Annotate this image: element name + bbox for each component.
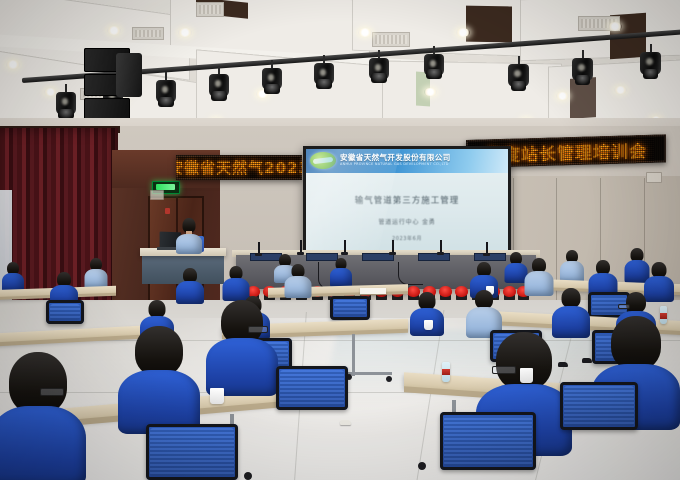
slide-header-band: 安徽省天然气开发股份有限公司 ANHUI PROVINCE NATURAL GA…: [306, 149, 508, 173]
attendee: [2, 262, 24, 292]
led-banner-left: 安徽省天然气2023: [176, 155, 302, 180]
stage-spotlight-icon: [314, 55, 334, 86]
recessed-downlight-icon: [556, 92, 569, 100]
wall-control-box[interactable]: [150, 190, 164, 200]
attendee-foreground: [118, 326, 200, 430]
fire-alarm-icon: [165, 208, 170, 214]
slide-presenter: 管道运行中心 金勇: [306, 217, 508, 226]
recessed-downlight-icon: [424, 88, 437, 96]
attendee-foreground: [206, 300, 278, 392]
microphone-base: [437, 252, 444, 255]
microphone-base: [341, 252, 348, 255]
shoe: [340, 420, 351, 425]
microphone-base: [389, 252, 396, 255]
presentation-slide: 安徽省天然气开发股份有限公司 ANHUI PROVINCE NATURAL GA…: [306, 149, 508, 259]
chair-caster: [418, 462, 426, 470]
recessed-downlight-icon: [456, 28, 470, 37]
recessed-downlight-icon: [614, 86, 627, 94]
stage-spotlight-icon: [572, 50, 593, 82]
shoe: [582, 358, 592, 363]
chair[interactable]: [276, 366, 348, 410]
stage-spotlight-icon: [424, 46, 444, 76]
stage-spotlight-icon: [156, 72, 176, 104]
projection-screen: 安徽省天然气开发股份有限公司 ANHUI PROVINCE NATURAL GA…: [303, 146, 511, 262]
wall-control-box[interactable]: [646, 172, 662, 183]
attendee: [222, 266, 249, 299]
recessed-downlight-icon: [107, 26, 121, 35]
stage-spotlight-icon: [508, 56, 529, 88]
recessed-downlight-icon: [178, 28, 192, 37]
recessed-downlight-icon: [6, 60, 20, 69]
paper-cup-icon: [210, 388, 224, 404]
stage-spotlight-icon: [262, 60, 282, 91]
conference-room-photo: 安徽省天然气2023 年度站长管理培训会 安徽省天然气开发股份有限公司 ANHU…: [0, 0, 680, 480]
attendee: [84, 258, 107, 288]
microphone-base: [483, 253, 490, 256]
company-globe-logo-icon: [310, 152, 336, 169]
table-rail: [348, 372, 392, 375]
stage-spotlight-icon: [209, 66, 229, 98]
microphone-base: [297, 252, 304, 255]
paper-cup-icon: [520, 368, 533, 383]
chair[interactable]: [146, 424, 238, 480]
attendee: [524, 258, 553, 294]
recessed-downlight-icon: [358, 28, 372, 37]
stage-spotlight-icon: [369, 50, 389, 80]
chair[interactable]: [330, 296, 370, 320]
ceiling-vent: [372, 32, 410, 47]
attendee: [330, 258, 352, 286]
chair-caster: [244, 472, 252, 480]
ceiling-vent: [132, 27, 164, 40]
table-caster: [386, 376, 392, 382]
ceiling-vent: [196, 2, 224, 17]
slide-date: 2023年6月: [306, 235, 508, 242]
table-leg: [352, 334, 355, 376]
attendee: [284, 264, 311, 296]
microphone-base: [255, 253, 262, 256]
paper-cup-icon: [424, 320, 433, 330]
recessed-downlight-icon: [608, 22, 622, 31]
chair[interactable]: [560, 382, 638, 430]
presenter: [176, 218, 202, 252]
chair[interactable]: [46, 300, 84, 324]
paper-handout: [360, 288, 386, 294]
desk-cable: [398, 262, 423, 285]
attendee-foreground: [0, 352, 86, 480]
slide-company-subtitle: ANHUI PROVINCE NATURAL GAS DEVELOPMENT C…: [340, 162, 449, 166]
chair[interactable]: [440, 412, 536, 470]
loudspeaker-icon: [116, 53, 142, 97]
ceiling-recess-dark: [466, 6, 512, 43]
attendee: [176, 268, 204, 302]
attendee: [552, 288, 590, 336]
slide-title: 输气管道第三方施工管理: [306, 194, 508, 206]
led-banner-left-text: 安徽省天然气2023: [176, 157, 302, 178]
stage-spotlight-icon: [56, 84, 76, 116]
attendee: [588, 260, 617, 296]
attendee: [560, 250, 584, 282]
stage-spotlight-icon: [640, 44, 661, 76]
water-bottle-icon: [442, 362, 450, 382]
